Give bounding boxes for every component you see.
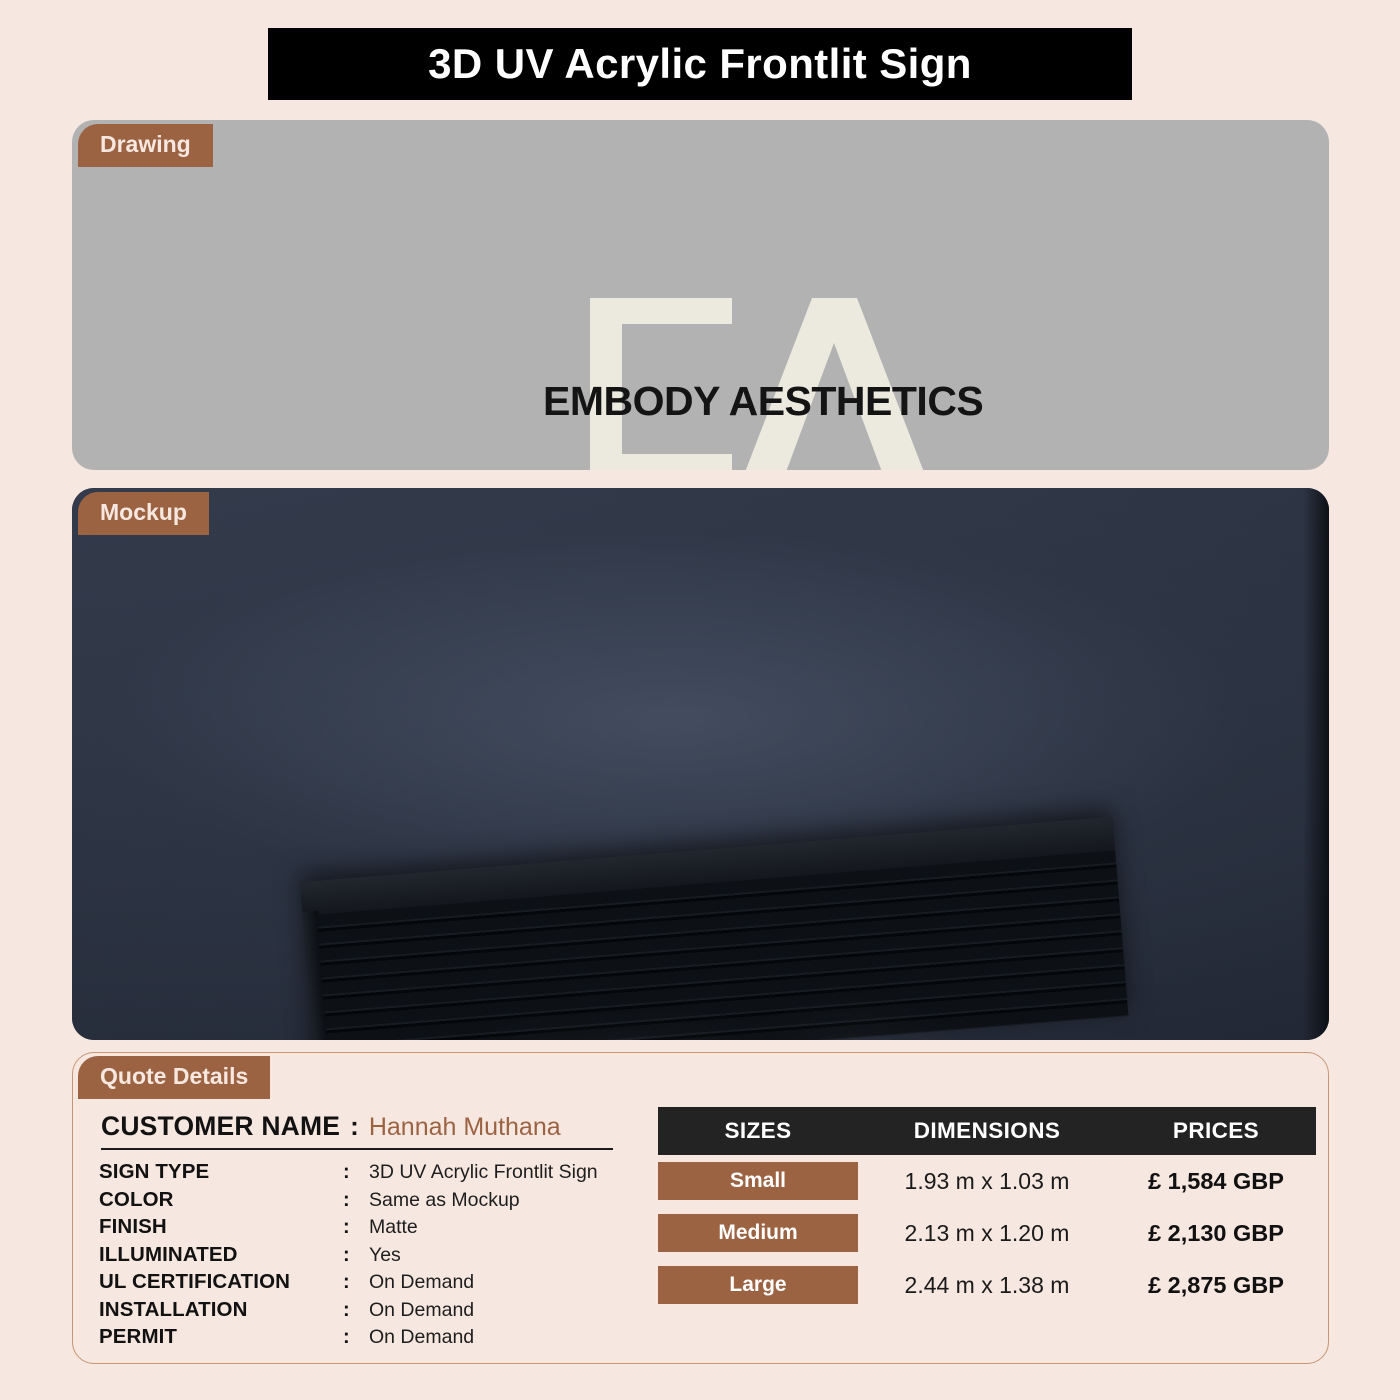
spec-value: On Demand [369, 1326, 474, 1349]
letter-e-bottom-bar [590, 454, 732, 470]
size-badge: Large [658, 1266, 858, 1304]
spec-row: INSTALLATION : On Demand [99, 1298, 658, 1326]
spec-label: PERMIT [99, 1325, 343, 1349]
spec-row: PERMIT : On Demand [99, 1325, 658, 1353]
customer-name-label: CUSTOMER NAME [101, 1111, 340, 1142]
customer-name-value: Hannah Muthana [369, 1113, 561, 1142]
column-header-sizes: SIZES [658, 1118, 858, 1144]
size-badge: Medium [658, 1214, 858, 1252]
spec-label: SIGN TYPE [99, 1160, 343, 1184]
size-badge: Small [658, 1162, 858, 1200]
quote-sheet: 3D UV Acrylic Frontlit Sign Drawing EMBO… [0, 0, 1400, 1400]
spec-value: 3D UV Acrylic Frontlit Sign [369, 1161, 598, 1184]
price-table: SIZES DIMENSIONS PRICES Small 1.93 m x 1… [658, 1107, 1328, 1363]
spec-colon: : [343, 1161, 369, 1184]
quote-details-body: CUSTOMER NAME : Hannah Muthana SIGN TYPE… [73, 1107, 1328, 1363]
spec-label: FINISH [99, 1215, 343, 1239]
section-tab-quote-details: Quote Details [78, 1056, 270, 1099]
section-tab-mockup: Mockup [78, 492, 209, 535]
price-table-row: Medium 2.13 m x 1.20 m £ 2,130 GBP [658, 1207, 1316, 1259]
price-table-row: Large 2.44 m x 1.38 m £ 2,875 GBP [658, 1259, 1316, 1311]
spec-list-column: CUSTOMER NAME : Hannah Muthana SIGN TYPE… [73, 1107, 658, 1363]
section-tab-drawing: Drawing [78, 124, 213, 167]
price-value: £ 2,130 GBP [1116, 1220, 1316, 1247]
spec-value: On Demand [369, 1299, 474, 1322]
logo-wordmark: EMBODY AESTHETICS [543, 378, 961, 425]
price-value: £ 2,875 GBP [1116, 1272, 1316, 1299]
spec-value: Matte [369, 1216, 418, 1239]
spec-value: On Demand [369, 1271, 474, 1294]
spec-row: FINISH : Matte [99, 1215, 658, 1243]
page-title: 3D UV Acrylic Frontlit Sign [428, 40, 972, 88]
spec-colon: : [343, 1326, 369, 1349]
spec-colon: : [343, 1244, 369, 1267]
spec-label: INSTALLATION [99, 1298, 343, 1322]
column-header-prices: PRICES [1116, 1118, 1316, 1144]
spec-value: Same as Mockup [369, 1189, 520, 1212]
spec-row: UL CERTIFICATION : On Demand [99, 1270, 658, 1298]
mockup-wall-edge-shadow [1303, 488, 1329, 1040]
drawing-logo: EMBODY AESTHETICS AESTHETICS & INJECTABL… [542, 290, 962, 470]
spec-row: COLOR : Same as Mockup [99, 1188, 658, 1216]
spec-value: Yes [369, 1244, 401, 1267]
spec-colon: : [343, 1299, 369, 1322]
price-table-header: SIZES DIMENSIONS PRICES [658, 1107, 1316, 1155]
mockup-panel: EMBODY AESTHETICS AESTHETICS & INJECTABL… [72, 488, 1329, 1040]
column-header-dimensions: DIMENSIONS [858, 1118, 1116, 1144]
dimensions-value: 2.13 m x 1.20 m [858, 1220, 1116, 1247]
drawing-panel: EMBODY AESTHETICS AESTHETICS & INJECTABL… [72, 120, 1329, 470]
price-value: £ 1,584 GBP [1116, 1168, 1316, 1195]
customer-name-row: CUSTOMER NAME : Hannah Muthana [101, 1111, 613, 1150]
spec-colon: : [343, 1189, 369, 1212]
spec-label: COLOR [99, 1188, 343, 1212]
spec-colon: : [343, 1216, 369, 1239]
spec-label: UL CERTIFICATION [99, 1270, 343, 1294]
spec-label: ILLUMINATED [99, 1243, 343, 1267]
spec-colon: : [343, 1271, 369, 1294]
customer-name-colon: : [350, 1111, 359, 1142]
dimensions-value: 1.93 m x 1.03 m [858, 1168, 1116, 1195]
spec-row: ILLUMINATED : Yes [99, 1243, 658, 1271]
page-title-banner: 3D UV Acrylic Frontlit Sign [268, 28, 1132, 100]
dimensions-value: 2.44 m x 1.38 m [858, 1272, 1116, 1299]
price-table-row: Small 1.93 m x 1.03 m £ 1,584 GBP [658, 1155, 1316, 1207]
spec-row: SIGN TYPE : 3D UV Acrylic Frontlit Sign [99, 1160, 658, 1188]
spec-rows: SIGN TYPE : 3D UV Acrylic Frontlit Sign … [99, 1160, 658, 1353]
